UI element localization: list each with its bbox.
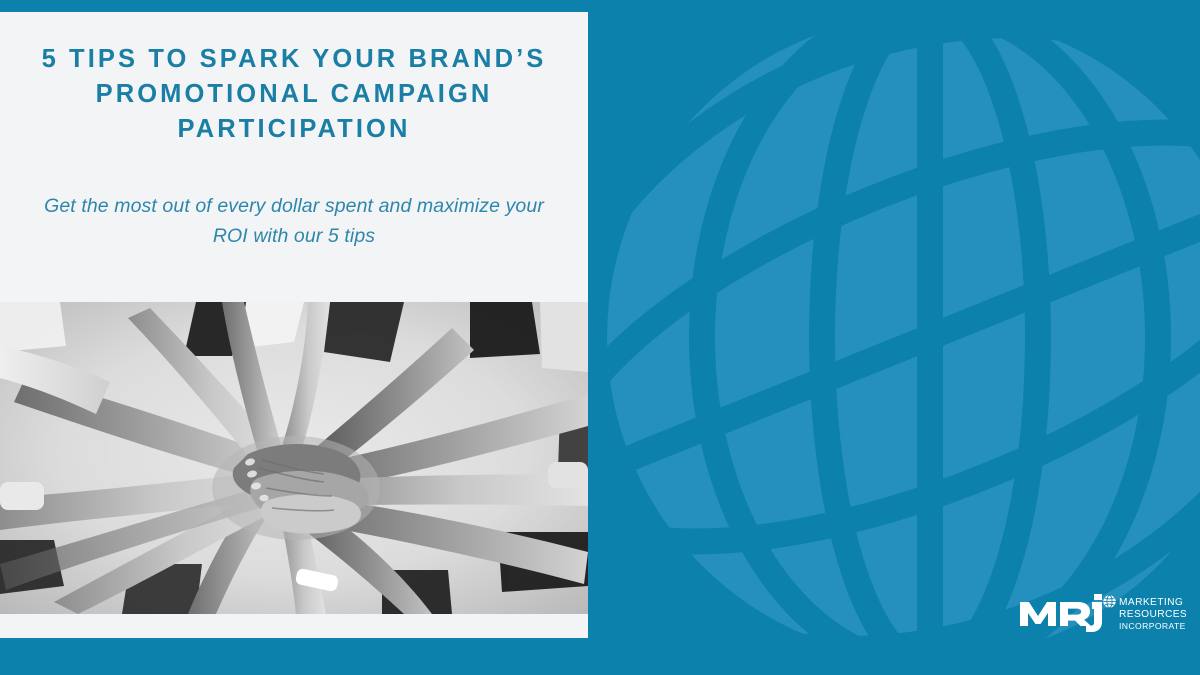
card-text-block: 5 TIPS TO SPARK YOUR BRAND’S PROMOTIONAL…	[0, 12, 588, 251]
logo-line-incorporated: INCORPORATED	[1119, 621, 1186, 631]
teamwork-hands-photo	[0, 302, 588, 614]
logo-line-resources: RESOURCES	[1119, 609, 1186, 620]
logo-line-marketing: MARKETING	[1119, 597, 1183, 608]
page-subtitle: Get the most out of every dollar spent a…	[34, 191, 554, 251]
social-graphic-canvas: 5 TIPS TO SPARK YOUR BRAND’S PROMOTIONAL…	[0, 0, 1200, 675]
page-title: 5 TIPS TO SPARK YOUR BRAND’S PROMOTIONAL…	[34, 42, 554, 147]
content-card: 5 TIPS TO SPARK YOUR BRAND’S PROMOTIONAL…	[0, 12, 588, 638]
mri-logo: MARKETING RESOURCES INCORPORATED	[1018, 592, 1186, 634]
